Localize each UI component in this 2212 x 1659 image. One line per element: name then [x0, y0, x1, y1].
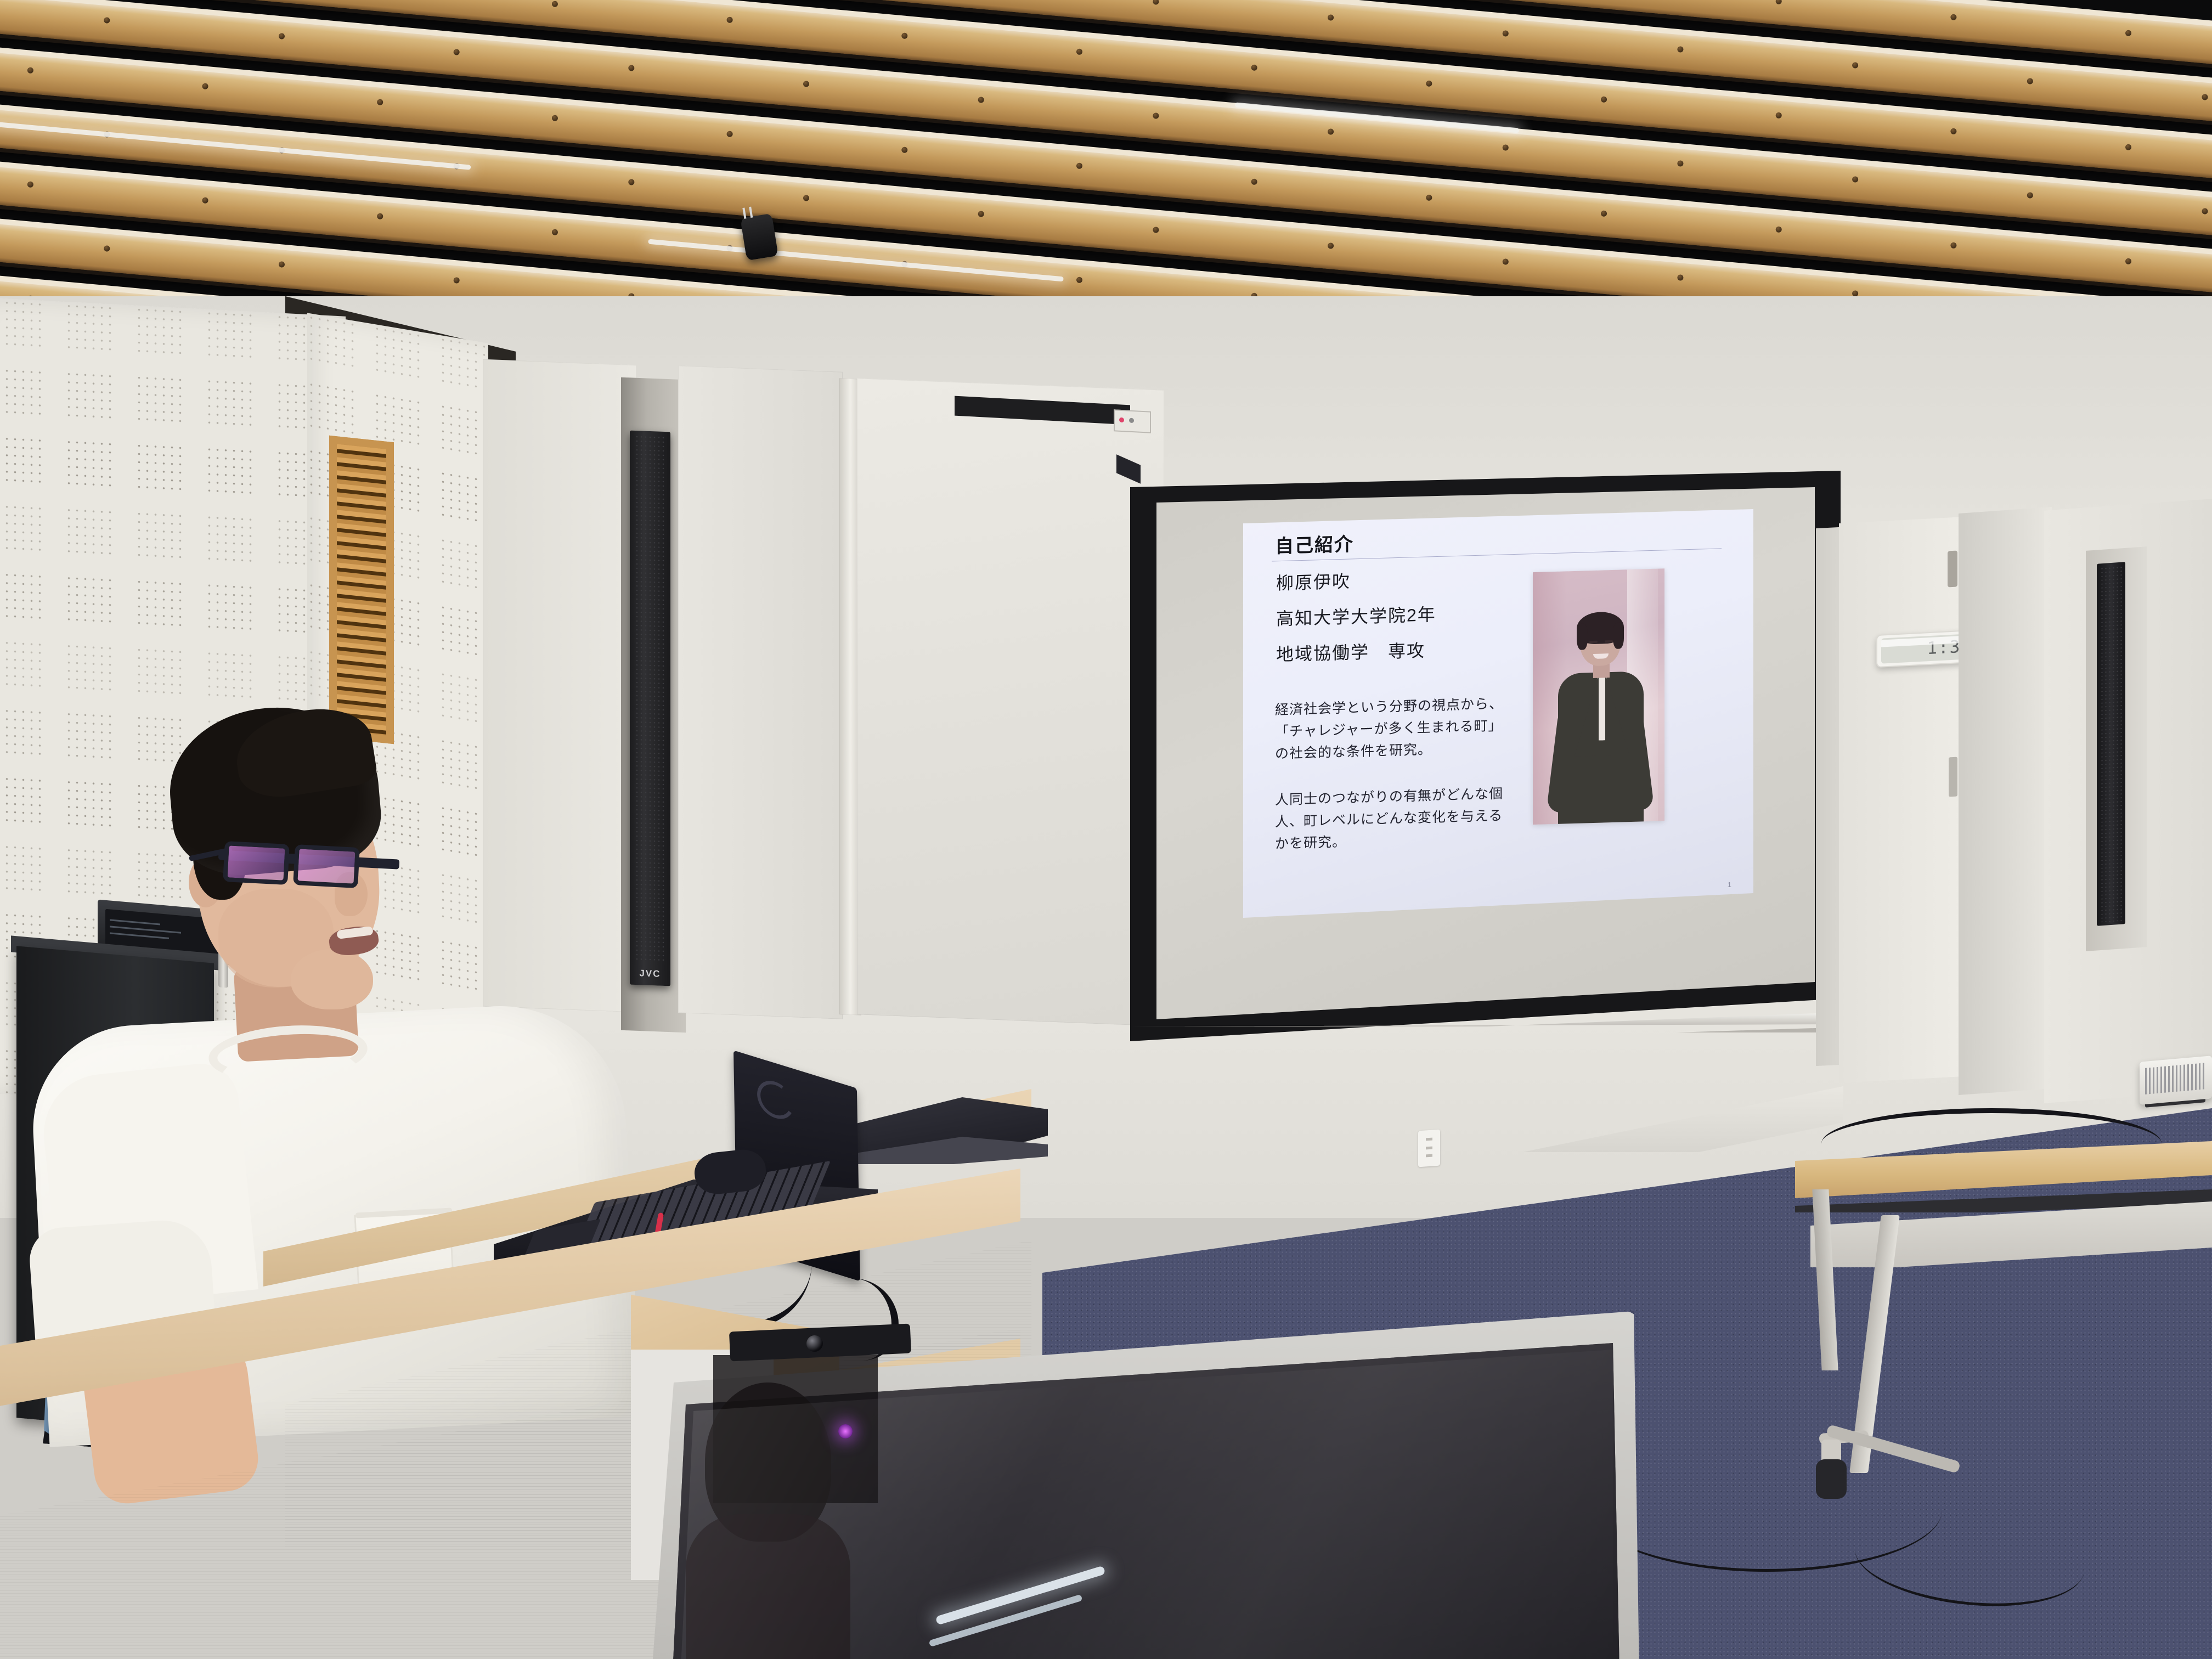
- photo-hair-side-left: [1577, 623, 1588, 650]
- glasses-lens-right-icon: [293, 844, 360, 888]
- wooden-louver-vent: [329, 436, 394, 744]
- seminar-room-photo: JVC 自己紹介 柳原伊吹 高知大学大学院2年 地域協働学 専攻 経済社会学とい…: [0, 0, 2212, 1659]
- slide-page-number: 1: [1728, 881, 1731, 889]
- photo-hair-side-right: [1613, 622, 1624, 649]
- wall-sensor-device: [1114, 409, 1151, 433]
- outlet-slot-1: [1426, 1138, 1432, 1141]
- table-caster-wheel: [1816, 1459, 1847, 1499]
- photo-eye-left: [1589, 641, 1598, 643]
- door[interactable]: [1839, 517, 1964, 1083]
- presentation-slide: 自己紹介 柳原伊吹 高知大学大学院2年 地域協働学 専攻 経済社会学という分野の…: [1243, 509, 1753, 918]
- door-handle[interactable]: [1948, 551, 1957, 588]
- sensor-led-2-icon: [1129, 418, 1134, 423]
- ceiling-spotlight-icon: [740, 213, 778, 261]
- photo-eye-right: [1605, 640, 1613, 642]
- sensor-led-icon: [1119, 417, 1124, 422]
- column-speaker-right: [2097, 562, 2125, 926]
- chin: [291, 949, 373, 1009]
- slide-title: 自己紹介: [1275, 529, 1354, 558]
- wall-outlet: [1418, 1130, 1440, 1167]
- speaker-mesh-right: [2100, 566, 2122, 923]
- right-wall-b: [1959, 507, 2052, 1095]
- door-hinge: [1949, 757, 1957, 797]
- wall-panel-d: [857, 378, 1164, 1026]
- slide-body-paragraph-1: 経済社会学という分野の視点から、 「チャレジャーが多く生まれる町」 の社会的な条…: [1275, 693, 1503, 765]
- laptop-logo-icon: [752, 1081, 798, 1120]
- outlet-slot-3: [1426, 1154, 1432, 1158]
- slide-major: 地域協働学 専攻: [1276, 637, 1425, 667]
- slide-affiliation: 高知大学大学院2年: [1276, 601, 1436, 630]
- slide-presenter-name: 柳原伊吹: [1276, 567, 1351, 595]
- outlet-slot-2: [1426, 1147, 1432, 1150]
- glasses-lens-left-icon: [223, 841, 290, 885]
- projector-device: [2140, 1056, 2212, 1105]
- wall-panel-b: [678, 365, 843, 1019]
- projector-vent-icon: [2145, 1063, 2205, 1094]
- slide-body-paragraph-2: 人同士のつながりの有無がどんな個 人、町レベルにどんな変化を与える かを研究。: [1275, 783, 1503, 855]
- slide-portrait-photo: [1533, 568, 1664, 825]
